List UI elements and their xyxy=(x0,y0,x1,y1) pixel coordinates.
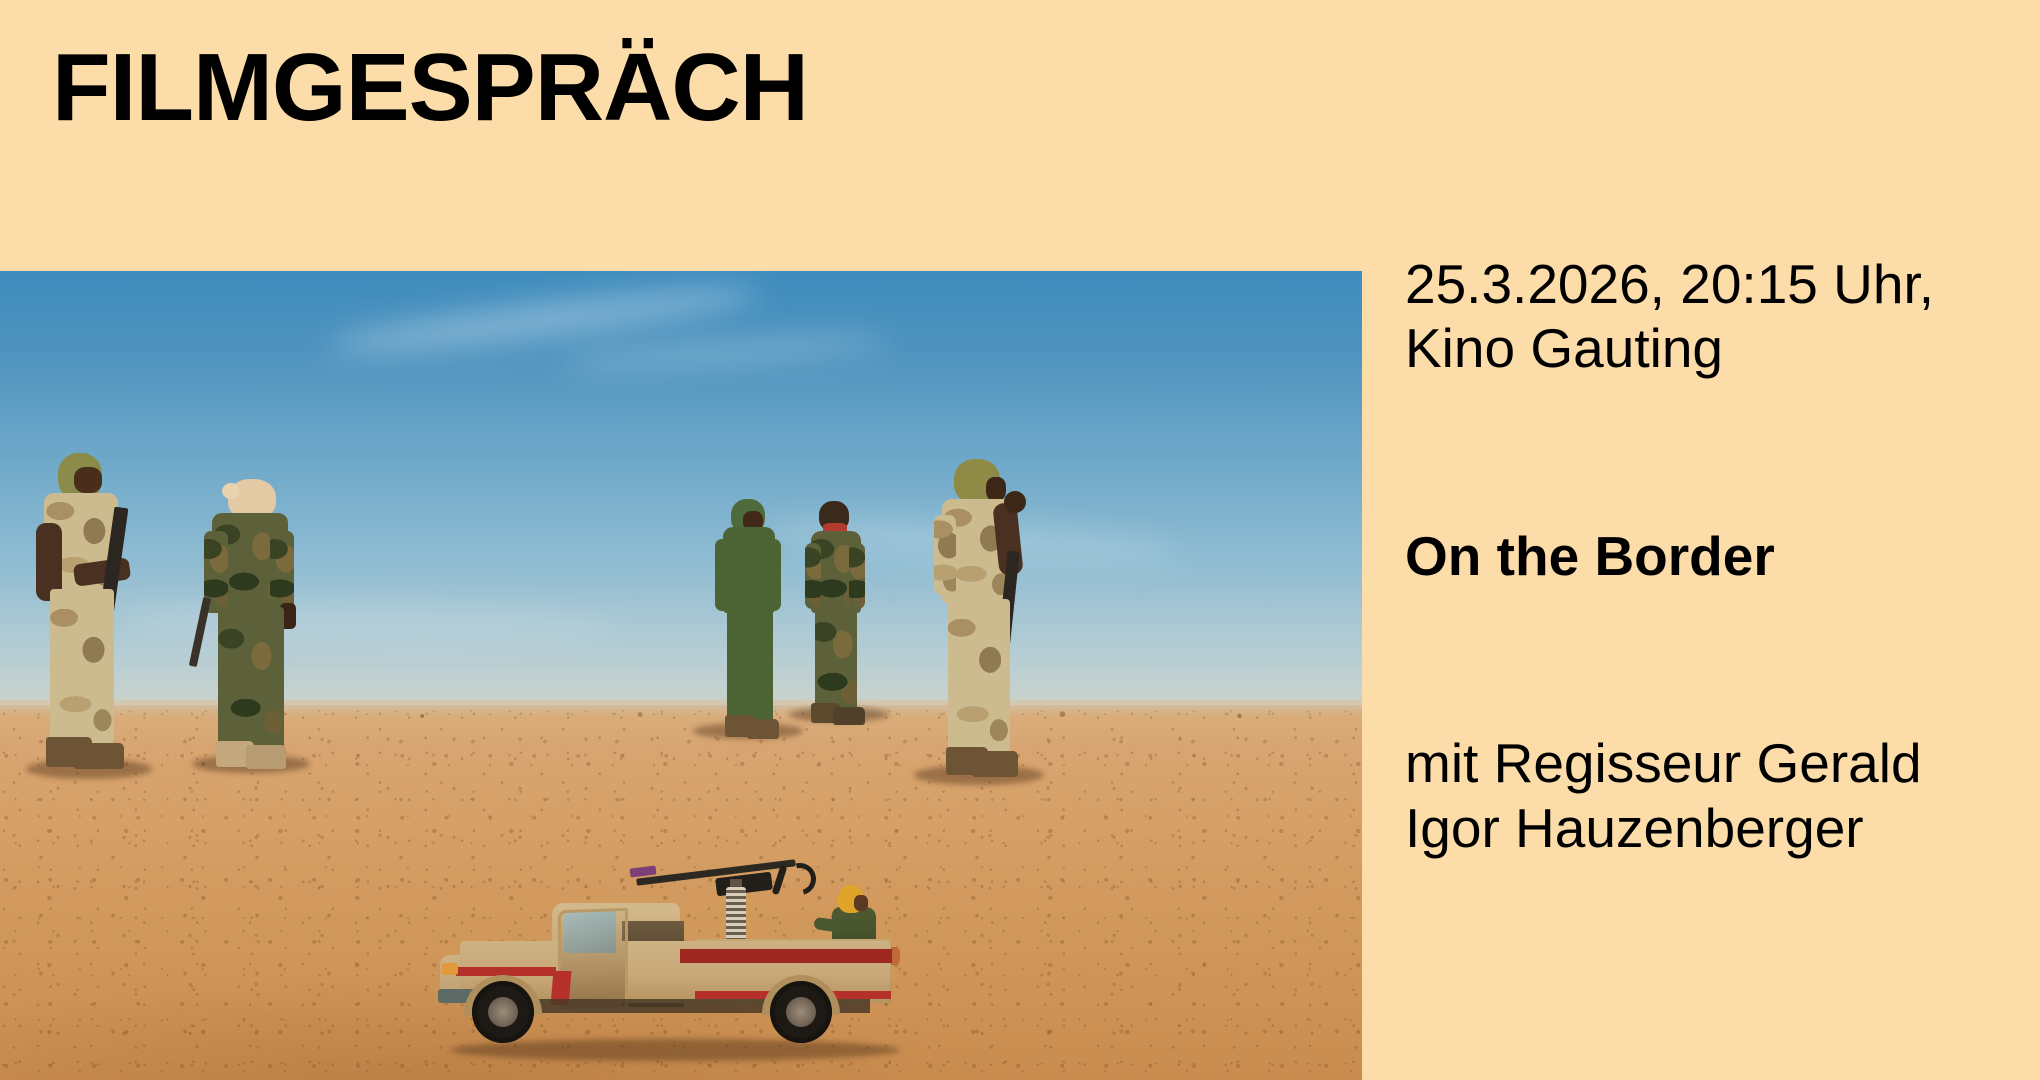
screening-info: 25.3.2026, 20:15 Uhr, Kino Gauting xyxy=(1405,252,2025,381)
boot xyxy=(972,751,1018,777)
legs xyxy=(50,589,114,749)
guest-info: mit Regisseur Gerald Igor Hauzenberger xyxy=(1405,731,2025,861)
legs xyxy=(948,599,1010,759)
boot xyxy=(833,707,865,725)
desert-patrol-photo xyxy=(0,271,1362,1080)
face xyxy=(986,477,1006,501)
boot xyxy=(74,743,124,769)
boot xyxy=(747,719,779,739)
arm xyxy=(270,531,294,613)
truck-wheel xyxy=(472,981,534,1043)
film-title: On the Border xyxy=(1405,524,2025,588)
face xyxy=(74,467,102,493)
turban-tail xyxy=(222,483,240,499)
truck-stripe xyxy=(680,949,892,963)
hand-raised xyxy=(1004,491,1026,513)
soldier-green-uniform xyxy=(715,499,787,745)
film-talk-poster: FILMGESPRÄCH xyxy=(0,0,2040,1080)
gunner-face xyxy=(854,895,868,911)
truck-shadow xyxy=(450,1039,900,1061)
arm xyxy=(763,539,781,611)
boot xyxy=(246,745,286,769)
arm xyxy=(715,539,733,611)
legs xyxy=(727,609,773,725)
soldier-second-woodland-camo xyxy=(202,479,308,775)
guest-line-1: mit Regisseur Gerald xyxy=(1405,731,2025,796)
legs xyxy=(815,609,857,713)
legs xyxy=(218,607,284,751)
arm xyxy=(934,515,956,595)
arm xyxy=(805,543,821,609)
truck-headlight xyxy=(442,963,458,975)
event-details: 25.3.2026, 20:15 Uhr, Kino Gauting On th… xyxy=(1405,252,2025,860)
guest-line-2: Igor Hauzenberger xyxy=(1405,796,2025,861)
soldier-right-desert-camo xyxy=(930,459,1038,789)
arm xyxy=(849,543,865,609)
venue-line: Kino Gauting xyxy=(1405,316,2025,380)
soldier-camo-center-right xyxy=(805,501,871,729)
pickup-truck xyxy=(440,863,940,1053)
page-title: FILMGESPRÄCH xyxy=(52,38,808,139)
truck-wheel xyxy=(770,981,832,1043)
soldier-left-desert-camo xyxy=(30,453,150,783)
gun-mount-spring xyxy=(726,887,746,945)
date-time-line: 25.3.2026, 20:15 Uhr, xyxy=(1405,252,2025,316)
